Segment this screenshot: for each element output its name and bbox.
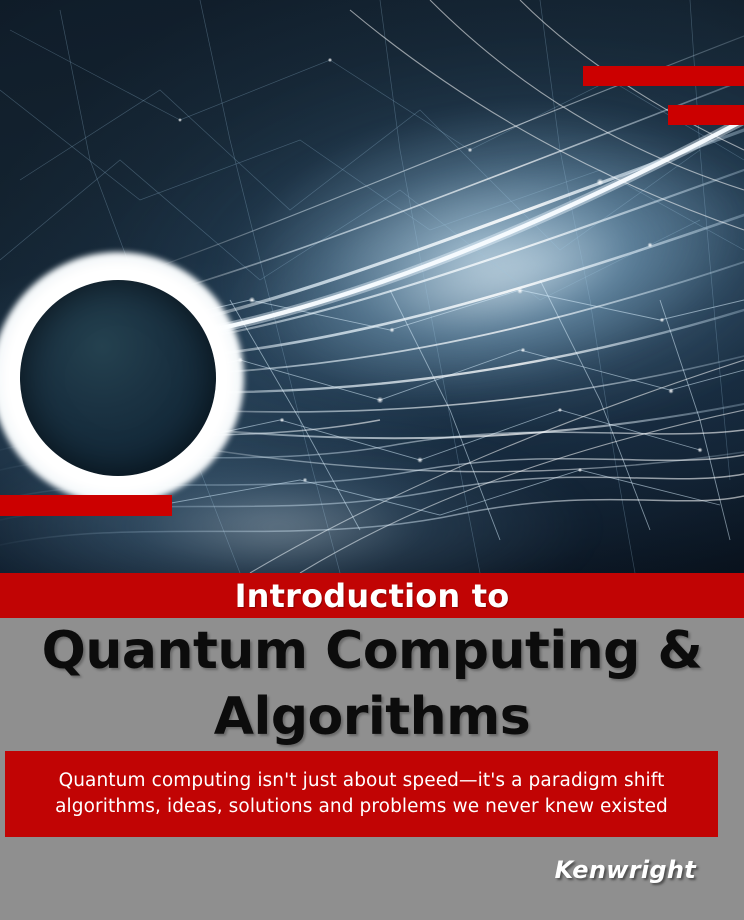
kicker-band: Introduction to [0,573,744,618]
kicker-text: Introduction to [235,580,510,612]
page-title: Quantum Computing & Algorithms [0,618,744,751]
subtitle-line-2: algorithms, ideas, solutions and problem… [55,794,668,820]
subtitle-box: Quantum computing isn't just about speed… [5,751,718,837]
title-line-2: Algorithms [0,684,744,750]
accent-bar-left [0,495,172,516]
accent-bar-top-right-1 [583,66,744,86]
cover-artwork [0,0,744,573]
book-cover: Introduction to Quantum Computing & Algo… [0,0,744,920]
subtitle-line-1: Quantum computing isn't just about speed… [59,768,665,794]
accent-bar-top-right-2 [668,105,744,125]
author-name: Kenwright [555,855,696,885]
title-line-1: Quantum Computing & [0,618,744,684]
